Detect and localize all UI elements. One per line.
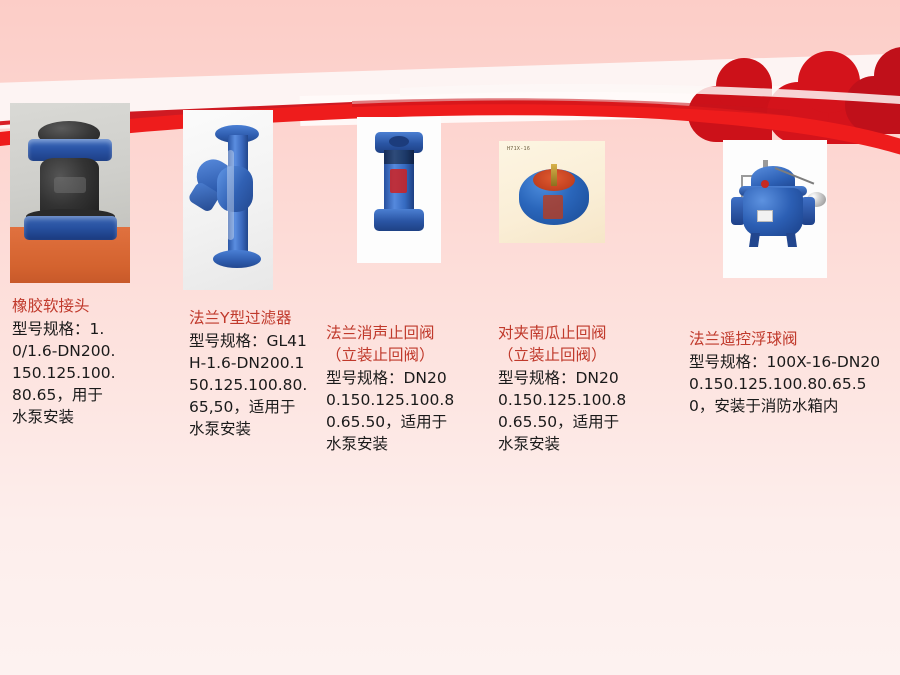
slide-canvas: 橡胶软接头 型号规格：1.0/1.6-DN200.150.125.100.80.…	[0, 0, 900, 675]
product-spec-5: 型号规格：100X-16-DN200.150.125.100.80.65.50，…	[689, 351, 889, 417]
product-caption-1: 橡胶软接头 型号规格：1.0/1.6-DN200.150.125.100.80.…	[12, 295, 117, 428]
product-caption-2: 法兰Y型过滤器 型号规格：GL41H-1.6-DN200.150.125.100…	[189, 307, 309, 440]
product-spec-4: 型号规格：DN200.150.125.100.80.65.50，适用于水泵安装	[498, 367, 628, 455]
product-title-1: 橡胶软接头	[12, 295, 117, 317]
product-spec-1: 型号规格：1.0/1.6-DN200.150.125.100.80.65，用于水…	[12, 318, 117, 428]
valve-model-code-label: H71X-16	[507, 146, 530, 152]
product-columns: 橡胶软接头 型号规格：1.0/1.6-DN200.150.125.100.80.…	[0, 0, 900, 675]
flanged-silencing-check-valve-photo	[357, 117, 441, 263]
product-title-3: 法兰消声止回阀（立装止回阀）	[326, 322, 456, 366]
wafer-pumpkin-check-valve-photo: H71X-16	[499, 141, 605, 243]
flanged-remote-float-ball-valve-photo	[723, 140, 827, 278]
flanged-y-strainer-photo	[183, 110, 273, 290]
product-spec-3: 型号规格：DN200.150.125.100.80.65.50，适用于水泵安装	[326, 367, 456, 455]
product-title-5: 法兰遥控浮球阀	[689, 328, 889, 350]
product-caption-4: 对夹南瓜止回阀（立装止回阀） 型号规格：DN200.150.125.100.80…	[498, 322, 628, 455]
product-caption-5: 法兰遥控浮球阀 型号规格：100X-16-DN200.150.125.100.8…	[689, 328, 889, 417]
rubber-flexible-joint-photo	[10, 103, 130, 283]
product-title-4: 对夹南瓜止回阀（立装止回阀）	[498, 322, 628, 366]
product-title-2: 法兰Y型过滤器	[189, 307, 309, 329]
product-spec-2: 型号规格：GL41H-1.6-DN200.150.125.100.80.65,5…	[189, 330, 309, 440]
product-caption-3: 法兰消声止回阀（立装止回阀） 型号规格：DN200.150.125.100.80…	[326, 322, 456, 455]
